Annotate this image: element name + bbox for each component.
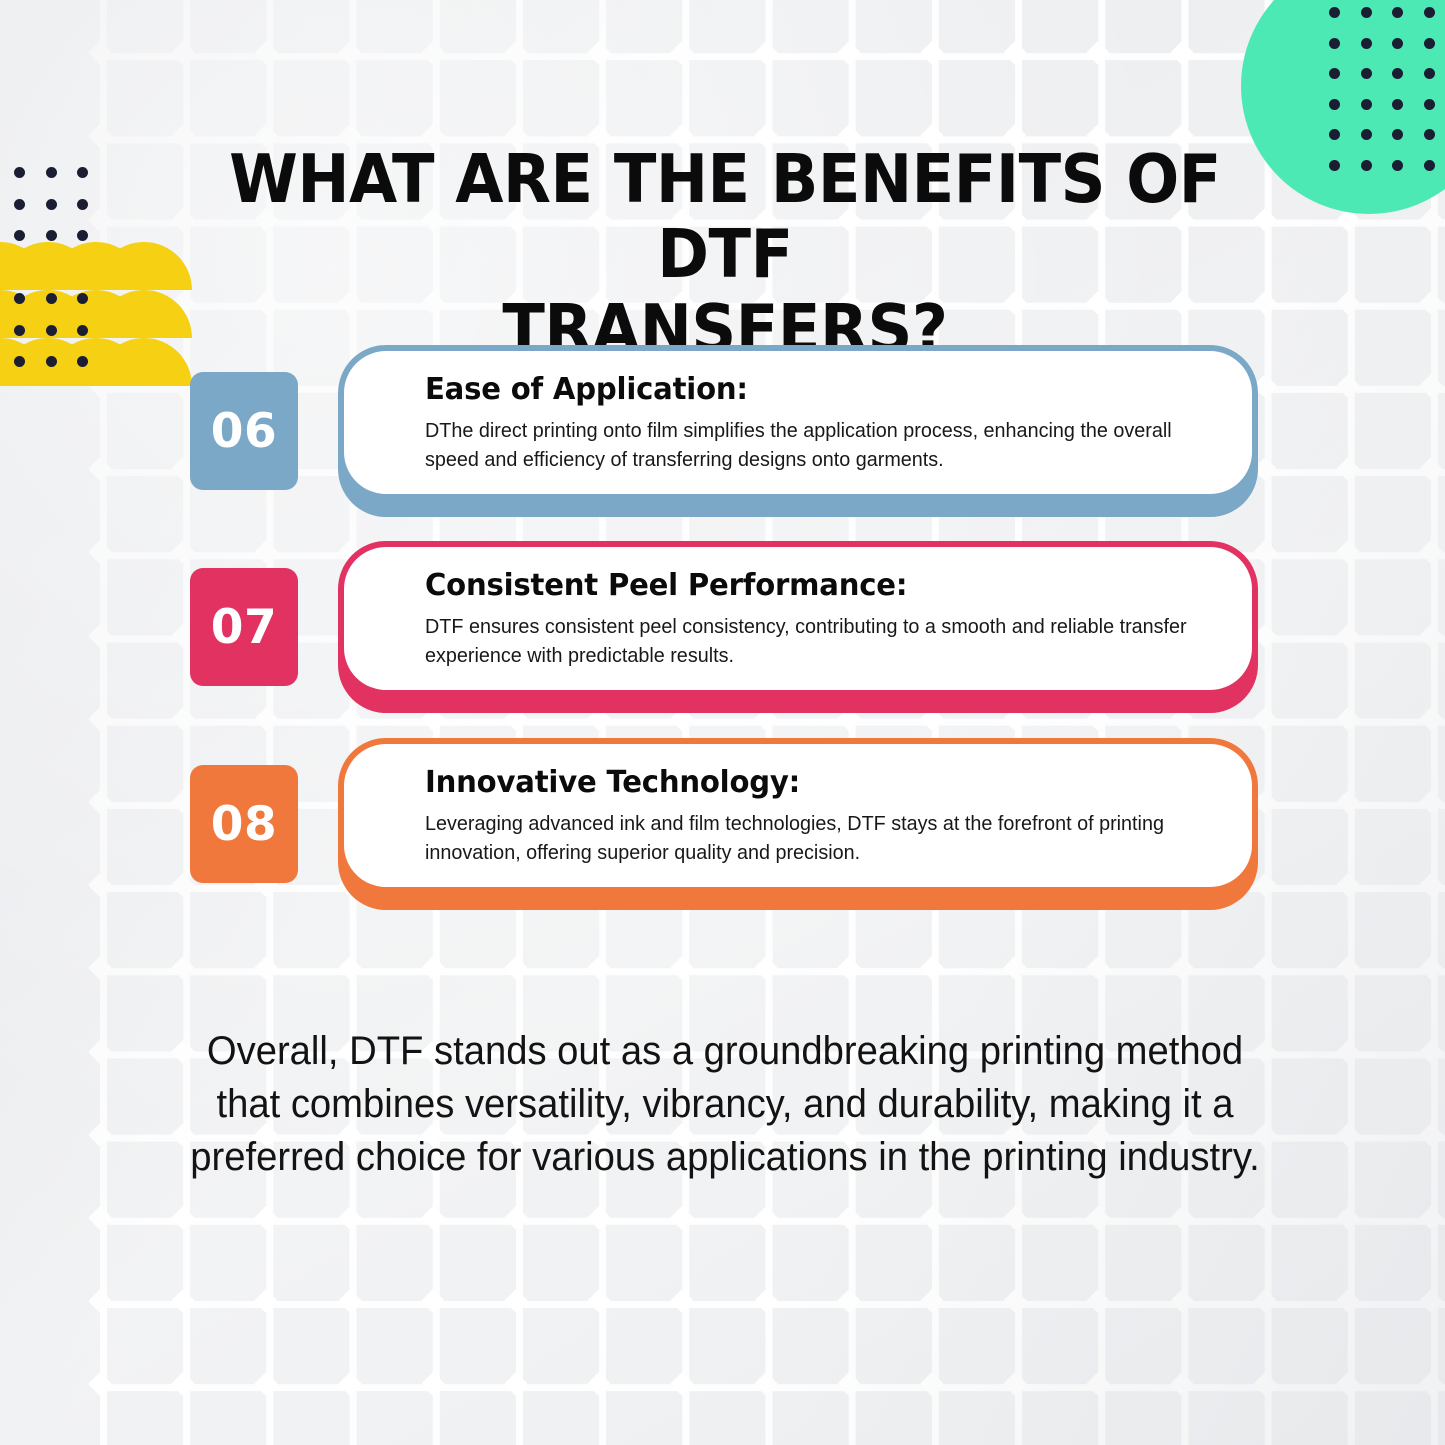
card-heading-08: Innovative Technology: [425,765,1194,800]
grid-diamond [1003,956,1027,980]
grid-diamond [254,540,278,564]
grid-diamond [171,540,195,564]
infographic-poster: WHAT ARE THE BENEFITS OF DTF TRANSFERS? … [0,0,1445,1445]
closing-paragraph: Overall, DTF stands out as a groundbreak… [176,1025,1274,1183]
grid-diamond [1336,707,1360,731]
grid-diamond [1336,1372,1360,1396]
grid-diamond [338,1206,362,1230]
grid-diamond [88,457,112,481]
grid-diamond [338,41,362,65]
decorative-dot [1361,68,1372,79]
grid-diamond [421,1289,445,1313]
decorative-dot [1361,129,1372,140]
grid-diamond [1419,1206,1443,1230]
grid-diamond [1170,1289,1194,1313]
grid-diamond [1336,291,1360,315]
grid-diamond [88,1206,112,1230]
grid-diamond [920,41,944,65]
grid-diamond [1003,1289,1027,1313]
grid-diamond [504,41,528,65]
grid-diamond [254,1372,278,1396]
grid-diamond [88,873,112,897]
grid-diamond [1419,873,1443,897]
decorative-dot [1361,99,1372,110]
decorative-dot [46,293,57,304]
decorative-dot [14,199,25,210]
card-heading-07: Consistent Peel Performance: [425,568,1194,603]
grid-diamond [504,1289,528,1313]
card-description-08: Leveraging advanced ink and film technol… [425,809,1218,867]
grid-diamond [1003,1206,1027,1230]
grid-diamond [171,1206,195,1230]
grid-diamond [171,41,195,65]
card-number-07: 07 [211,600,277,655]
grid-diamond [1419,707,1443,731]
decorative-dot [1392,7,1403,18]
grid-diamond [670,1372,694,1396]
grid-diamond [1419,1040,1443,1064]
grid-diamond [1003,1372,1027,1396]
grid-diamond [1336,540,1360,564]
grid-diamond [338,707,362,731]
decorative-dot [1424,38,1435,49]
decorative-dot [46,167,57,178]
grid-diamond [338,1372,362,1396]
decorative-dot [1424,68,1435,79]
grid-diamond [587,1289,611,1313]
decorative-dot [14,167,25,178]
grid-diamond [1419,291,1443,315]
decorative-dot [46,325,57,336]
grid-diamond [754,1206,778,1230]
decorative-dot [1329,7,1340,18]
grid-diamond [88,208,112,232]
decorative-dot [14,230,25,241]
grid-diamond [1086,41,1110,65]
grid-diamond [1253,956,1277,980]
grid-diamond [1419,540,1443,564]
grid-diamond [171,956,195,980]
grid-diamond [88,1289,112,1313]
grid-diamond [754,1289,778,1313]
decorative-dot [1329,38,1340,49]
grid-diamond [1419,956,1443,980]
grid-diamond [421,956,445,980]
grid-diamond [1336,1206,1360,1230]
card-description-06: DThe direct printing onto film simplifie… [425,416,1218,474]
grid-diamond [1336,624,1360,648]
decorative-dot [1424,129,1435,140]
decorative-dot [46,199,57,210]
grid-diamond [1253,1372,1277,1396]
grid-diamond [837,1206,861,1230]
grid-diamond [421,1372,445,1396]
decorative-dot [14,356,25,367]
card-number-badge-08: 08 [190,765,298,883]
card-pill-07: Consistent Peel Performance: DTF ensures… [338,541,1258,696]
grid-diamond [1336,873,1360,897]
grid-diamond [1086,1372,1110,1396]
decorative-dot [77,356,88,367]
card-surface-07: Consistent Peel Performance: DTF ensures… [338,541,1258,696]
decorative-dot [14,293,25,304]
grid-diamond [88,707,112,731]
grid-diamond [504,1372,528,1396]
decorative-dot [1424,7,1435,18]
grid-diamond [1419,1123,1443,1147]
grid-diamond [920,1289,944,1313]
decorative-dot [77,167,88,178]
decorative-dot [1392,99,1403,110]
grid-diamond [837,41,861,65]
grid-diamond [754,1372,778,1396]
decorative-dot [1392,129,1403,140]
grid-diamond [254,956,278,980]
card-surface-08: Innovative Technology: Leveraging advanc… [338,738,1258,893]
grid-diamond [1419,457,1443,481]
grid-diamond [1336,1289,1360,1313]
grid-diamond [670,1206,694,1230]
grid-diamond [421,41,445,65]
decorative-dot [1329,160,1340,171]
decorative-dot [1424,160,1435,171]
grid-diamond [254,41,278,65]
grid-diamond [254,1206,278,1230]
grid-diamond [587,1206,611,1230]
grid-diamond [1170,41,1194,65]
grid-diamond [421,1206,445,1230]
grid-diamond [1419,374,1443,398]
decorative-dot [1329,68,1340,79]
grid-diamond [670,41,694,65]
grid-diamond [1419,790,1443,814]
card-heading-06: Ease of Application: [425,372,1194,407]
grid-diamond [1253,1206,1277,1230]
grid-diamond [254,1289,278,1313]
decorative-dot [77,199,88,210]
grid-diamond [88,540,112,564]
grid-diamond [88,956,112,980]
card-number-06: 06 [211,404,277,459]
grid-diamond [1170,956,1194,980]
grid-diamond [88,1123,112,1147]
grid-diamond [1419,1289,1443,1313]
decorative-dot [1361,160,1372,171]
grid-diamond [920,1206,944,1230]
card-description-07: DTF ensures consistent peel consistency,… [425,612,1218,670]
grid-diamond [171,1372,195,1396]
grid-diamond [1419,1372,1443,1396]
page-title: WHAT ARE THE BENEFITS OF DTF TRANSFERS? [181,142,1269,367]
card-number-badge-06: 06 [190,372,298,490]
grid-diamond [1419,208,1443,232]
decorative-dot [1392,68,1403,79]
grid-diamond [670,1289,694,1313]
card-pill-08: Innovative Technology: Leveraging advanc… [338,738,1258,893]
grid-diamond [1336,1123,1360,1147]
grid-diamond [587,956,611,980]
grid-diamond [1086,1289,1110,1313]
grid-diamond [1336,790,1360,814]
grid-diamond [171,1289,195,1313]
grid-diamond [1170,1206,1194,1230]
grid-diamond [1253,1289,1277,1313]
grid-diamond [837,1289,861,1313]
grid-diamond [1419,624,1443,648]
grid-diamond [88,624,112,648]
grid-diamond [754,41,778,65]
grid-diamond [1336,374,1360,398]
grid-diamond [1336,1040,1360,1064]
decorative-dot [1392,38,1403,49]
grid-diamond [88,790,112,814]
grid-diamond [1170,1372,1194,1396]
decorative-dot [1392,160,1403,171]
card-number-badge-07: 07 [190,568,298,686]
grid-diamond [587,41,611,65]
grid-diamond [1253,707,1277,731]
grid-diamond [837,1372,861,1396]
card-surface-06: Ease of Application: DThe direct printin… [338,345,1258,500]
grid-diamond [1086,1206,1110,1230]
grid-diamond [1336,457,1360,481]
grid-diamond [88,1040,112,1064]
decorative-dot [77,293,88,304]
card-number-08: 08 [211,797,277,852]
grid-diamond [920,1372,944,1396]
decorative-dot [1361,38,1372,49]
grid-diamond [1086,956,1110,980]
grid-diamond [338,956,362,980]
grid-diamond [88,41,112,65]
decorative-dot [46,356,57,367]
card-pill-06: Ease of Application: DThe direct printin… [338,345,1258,500]
grid-diamond [171,707,195,731]
grid-diamond [670,956,694,980]
decorative-dot [1329,99,1340,110]
grid-diamond [504,1206,528,1230]
decorative-dot [14,325,25,336]
decorative-dot [77,230,88,241]
grid-diamond [1003,41,1027,65]
grid-diamond [920,956,944,980]
decorative-dot [77,325,88,336]
grid-diamond [504,956,528,980]
decorative-dot [1424,99,1435,110]
teal-circle-decoration [1241,0,1445,214]
grid-diamond [254,707,278,731]
grid-diamond [1336,956,1360,980]
decorative-dot [1329,129,1340,140]
decorative-dot [46,230,57,241]
grid-diamond [754,956,778,980]
decorative-dot [1361,7,1372,18]
grid-diamond [88,1372,112,1396]
grid-diamond [587,1372,611,1396]
grid-diamond [837,956,861,980]
grid-diamond [88,124,112,148]
grid-diamond [338,1289,362,1313]
